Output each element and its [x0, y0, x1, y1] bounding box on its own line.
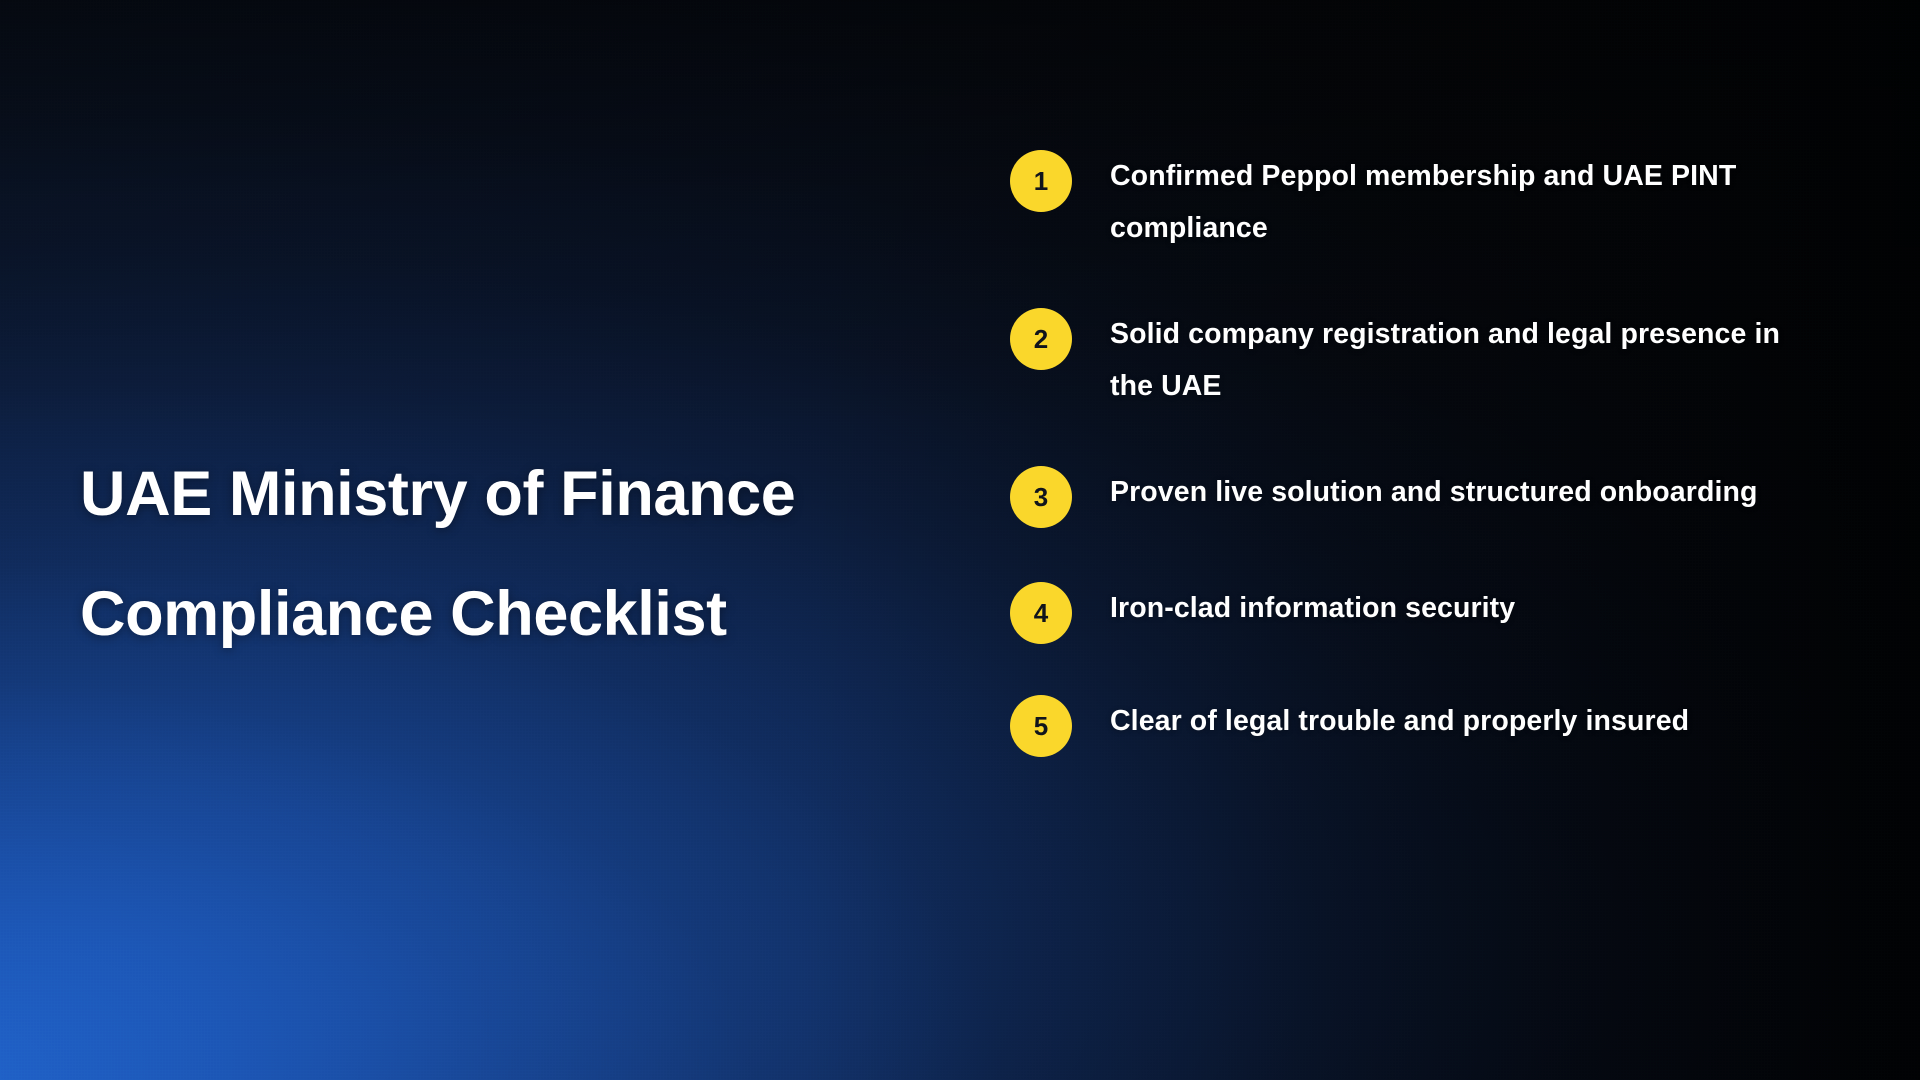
- list-item: 2 Solid company registration and legal p…: [1010, 306, 1800, 412]
- list-item-number-badge: 4: [1010, 582, 1072, 644]
- page-title: UAE Ministry of Finance Compliance Check…: [80, 434, 880, 674]
- slide-canvas: UAE Ministry of Finance Compliance Check…: [0, 0, 1920, 1080]
- list-item: 4 Iron-clad information security: [1010, 580, 1800, 644]
- compliance-checklist: 1 Confirmed Peppol membership and UAE PI…: [1010, 148, 1800, 757]
- list-item-number-badge: 5: [1010, 695, 1072, 757]
- list-item-label: Confirmed Peppol membership and UAE PINT…: [1110, 148, 1800, 254]
- list-item-label: Iron-clad information security: [1110, 580, 1515, 634]
- list-item-label: Proven live solution and structured onbo…: [1110, 464, 1758, 518]
- list-item-number-badge: 1: [1010, 150, 1072, 212]
- list-item-label: Clear of legal trouble and properly insu…: [1110, 693, 1689, 747]
- list-item: 3 Proven live solution and structured on…: [1010, 464, 1800, 528]
- list-item-number-badge: 3: [1010, 466, 1072, 528]
- page-title-line-2: Compliance Checklist: [80, 554, 880, 674]
- list-item-number-badge: 2: [1010, 308, 1072, 370]
- list-item: 1 Confirmed Peppol membership and UAE PI…: [1010, 148, 1800, 254]
- list-item: 5 Clear of legal trouble and properly in…: [1010, 693, 1800, 757]
- page-title-line-1: UAE Ministry of Finance: [80, 434, 880, 554]
- list-item-label: Solid company registration and legal pre…: [1110, 306, 1800, 412]
